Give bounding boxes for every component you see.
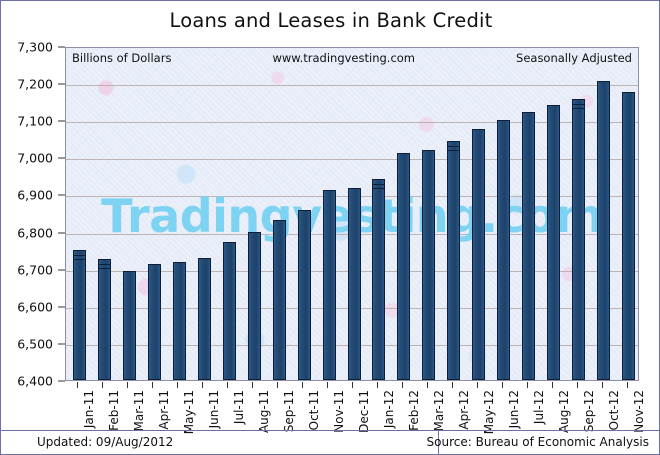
bar[interactable] [497,120,510,380]
x-axis-tick-mark [352,382,353,388]
bar-hatch-line [99,268,110,269]
y-axis-tick-mark [58,269,65,270]
y-axis-tick-label: 7,300 [17,40,53,55]
x-axis-tick-mark [627,382,628,388]
y-axis-tick-label: 6,800 [17,225,53,240]
y-axis: 6,4006,5006,6006,7006,8006,9007,0007,100… [1,47,61,381]
x-axis-tick-label: Nov-11 [332,390,346,433]
x-axis-tick-label: Sep-11 [282,390,296,432]
x-axis-tick-mark [452,382,453,388]
bars-layer [66,48,638,380]
x-axis-tick-label: Dec-11 [357,390,371,433]
y-axis-tick-mark [58,381,65,382]
x-axis-tick-label: Feb-12 [407,390,421,431]
bar-hatch-line [373,188,384,189]
x-axis-tick-mark [527,382,528,388]
x-axis-tick-label: May-11 [182,390,196,434]
y-axis-tick-mark [58,232,65,233]
bar[interactable] [323,190,336,380]
x-axis-tick-label: May-12 [482,390,496,434]
y-axis-tick-mark [58,195,65,196]
bar-hatch-line [448,150,459,151]
x-axis-tick-label: Aug-12 [557,390,571,433]
bar[interactable] [348,188,361,380]
units-label: Billions of Dollars [72,51,171,65]
y-axis-tick-mark [58,121,65,122]
y-axis-tick-label: 6,900 [17,188,53,203]
y-axis-tick-label: 6,700 [17,262,53,277]
x-axis-tick-label: Aug-11 [257,390,271,433]
x-axis-tick-mark [502,382,503,388]
adjustment-label: Seasonally Adjusted [516,51,632,65]
bar[interactable] [447,141,460,380]
x-axis-tick-label: Nov-12 [632,390,646,433]
bar[interactable] [572,99,585,380]
x-axis-tick-mark [177,382,178,388]
x-axis-tick-mark [577,382,578,388]
chart-container: Loans and Leases in Bank Credit 6,4006,5… [0,0,660,455]
bar[interactable] [248,232,261,380]
bar[interactable] [123,271,136,380]
footer-updated-label: Updated: 09/Aug/2012 [37,435,173,449]
x-axis-tick-mark [302,382,303,388]
x-axis-tick-mark [77,382,78,388]
chart-title: Loans and Leases in Bank Credit [1,9,660,32]
x-axis-tick-mark [377,382,378,388]
x-axis-tick-mark [552,382,553,388]
y-axis-tick-label: 7,000 [17,151,53,166]
x-axis-tick-label: Jun-12 [507,390,521,428]
site-label: www.tradingvesting.com [272,51,415,65]
x-axis-tick-label: Jan-12 [382,390,396,428]
footer-source-label: Source: Bureau of Economic Analysis [427,435,649,449]
x-axis-tick-label: Jul-12 [532,390,546,424]
bar[interactable] [173,262,186,380]
bar[interactable] [522,112,535,380]
x-axis-tick-label: Jan-11 [82,390,96,428]
bar-hatch-line [74,259,85,260]
y-axis-tick-label: 7,200 [17,77,53,92]
x-axis-tick-mark [477,382,478,388]
bar[interactable] [273,220,286,380]
x-axis-tick-label: Mar-11 [132,390,146,431]
bar[interactable] [198,258,211,380]
x-axis-tick-mark [102,382,103,388]
x-axis-tick-mark [327,382,328,388]
y-axis-tick-mark [58,158,65,159]
x-axis-tick-mark [202,382,203,388]
y-axis-tick-mark [58,84,65,85]
bar-hatch-line [573,108,584,109]
x-axis-tick-mark [252,382,253,388]
bar[interactable] [148,264,161,380]
x-axis-tick-label: Apr-11 [157,390,171,430]
y-axis-tick-mark [58,306,65,307]
bar[interactable] [223,242,236,380]
x-axis-tick-mark [427,382,428,388]
bar[interactable] [372,179,385,381]
plot-area: Tradingvesting.com Billions of Dollars w… [65,47,639,381]
bar-hatch-line [373,184,384,185]
y-axis-tick-mark [58,47,65,48]
y-axis-tick-mark [58,343,65,344]
bar[interactable] [397,153,410,380]
bar[interactable] [422,150,435,380]
bar-hatch-line [99,264,110,265]
bar[interactable] [622,92,635,380]
bar[interactable] [597,81,610,380]
x-axis-tick-label: Oct-11 [307,390,321,430]
bar-hatch-line [74,255,85,256]
bar[interactable] [298,210,311,380]
x-axis-tick-label: Feb-11 [107,390,121,431]
bar-hatch-line [448,146,459,147]
y-axis-tick-label: 6,600 [17,299,53,314]
x-axis-tick-mark [152,382,153,388]
x-axis-tick-mark [602,382,603,388]
x-axis-tick-mark [277,382,278,388]
y-axis-tick-label: 7,100 [17,114,53,129]
bar[interactable] [472,129,485,380]
x-axis-tick-label: Jun-11 [207,390,221,428]
x-axis-tick-label: Sep-12 [582,390,596,432]
plot-header-band: Billions of Dollars www.tradingvesting.c… [72,51,632,65]
x-axis-tick-label: Apr-12 [457,390,471,430]
x-axis-tick-label: Mar-12 [432,390,446,431]
y-axis-tick-label: 6,400 [17,374,53,389]
x-axis-tick-mark [402,382,403,388]
bar[interactable] [73,250,86,380]
x-axis-tick-label: Oct-12 [607,390,621,430]
bar-hatch-line [573,104,584,105]
y-axis-tick-label: 6,500 [17,336,53,351]
footer: Updated: 09/Aug/2012 Source: Bureau of E… [1,430,660,454]
x-axis-tick-mark [127,382,128,388]
bar[interactable] [547,105,560,380]
x-axis-tick-label: Jul-11 [232,390,246,424]
bar[interactable] [98,259,111,380]
x-axis-tick-mark [227,382,228,388]
x-axis: Jan-11Feb-11Mar-11Apr-11May-11Jun-11Jul-… [65,382,639,430]
